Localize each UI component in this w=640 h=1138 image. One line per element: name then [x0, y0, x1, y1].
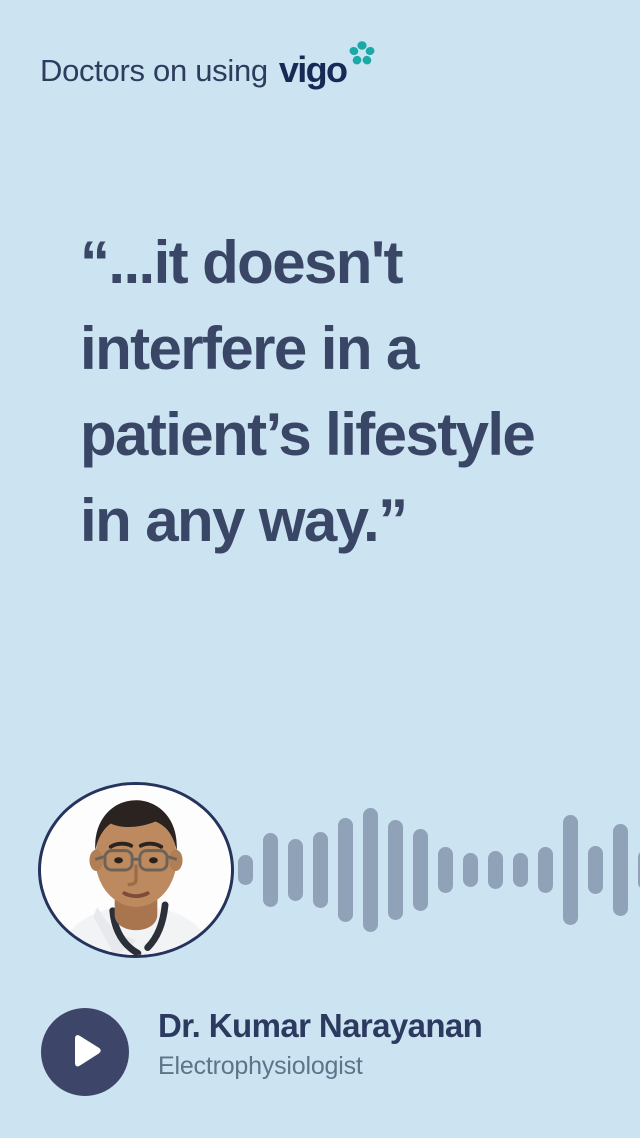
waveform-bar: [263, 833, 278, 907]
waveform-bar: [338, 818, 353, 922]
waveform-bar: [513, 853, 528, 887]
quote-line: in any way.”: [80, 478, 610, 564]
speaker-role: Electrophysiologist: [158, 1053, 628, 1081]
audio-waveform-icon[interactable]: [238, 800, 640, 940]
quote-line: patient’s lifestyle: [80, 392, 610, 478]
waveform-bar: [563, 815, 578, 925]
speaker-info: Dr. Kumar Narayanan Electrophysiologist: [158, 1007, 628, 1080]
waveform-bar: [413, 829, 428, 911]
waveform-bar: [438, 847, 453, 893]
play-icon: [66, 1033, 105, 1072]
waveform-bar: [363, 808, 378, 932]
speaker-name: Dr. Kumar Narayanan: [158, 1007, 628, 1046]
avatar: [38, 782, 234, 958]
brand-logo: vigo: [279, 52, 347, 88]
header: Doctors on using vigo: [40, 44, 346, 96]
waveform-bar: [488, 851, 503, 889]
vigo-flower-icon: [347, 40, 377, 68]
quote-line: interfere in a: [80, 306, 610, 392]
waveform-bar: [238, 855, 253, 885]
waveform-bar: [313, 832, 328, 908]
waveform-bar: [588, 846, 603, 894]
header-title: Doctors on using: [40, 55, 268, 86]
quote-line: “...it doesn't: [80, 220, 610, 306]
waveform-bar: [538, 847, 553, 893]
waveform-bar: [388, 820, 403, 920]
quote-text: “...it doesn't interfere in a patient’s …: [80, 220, 610, 564]
testimonial-card: Doctors on using vigo “...it doesn't int…: [0, 0, 640, 1138]
play-button[interactable]: [41, 1008, 129, 1096]
brand-wordmark: vigo: [279, 49, 347, 90]
waveform-bar: [613, 824, 628, 916]
waveform-bar: [463, 853, 478, 887]
waveform-bar: [288, 839, 303, 901]
